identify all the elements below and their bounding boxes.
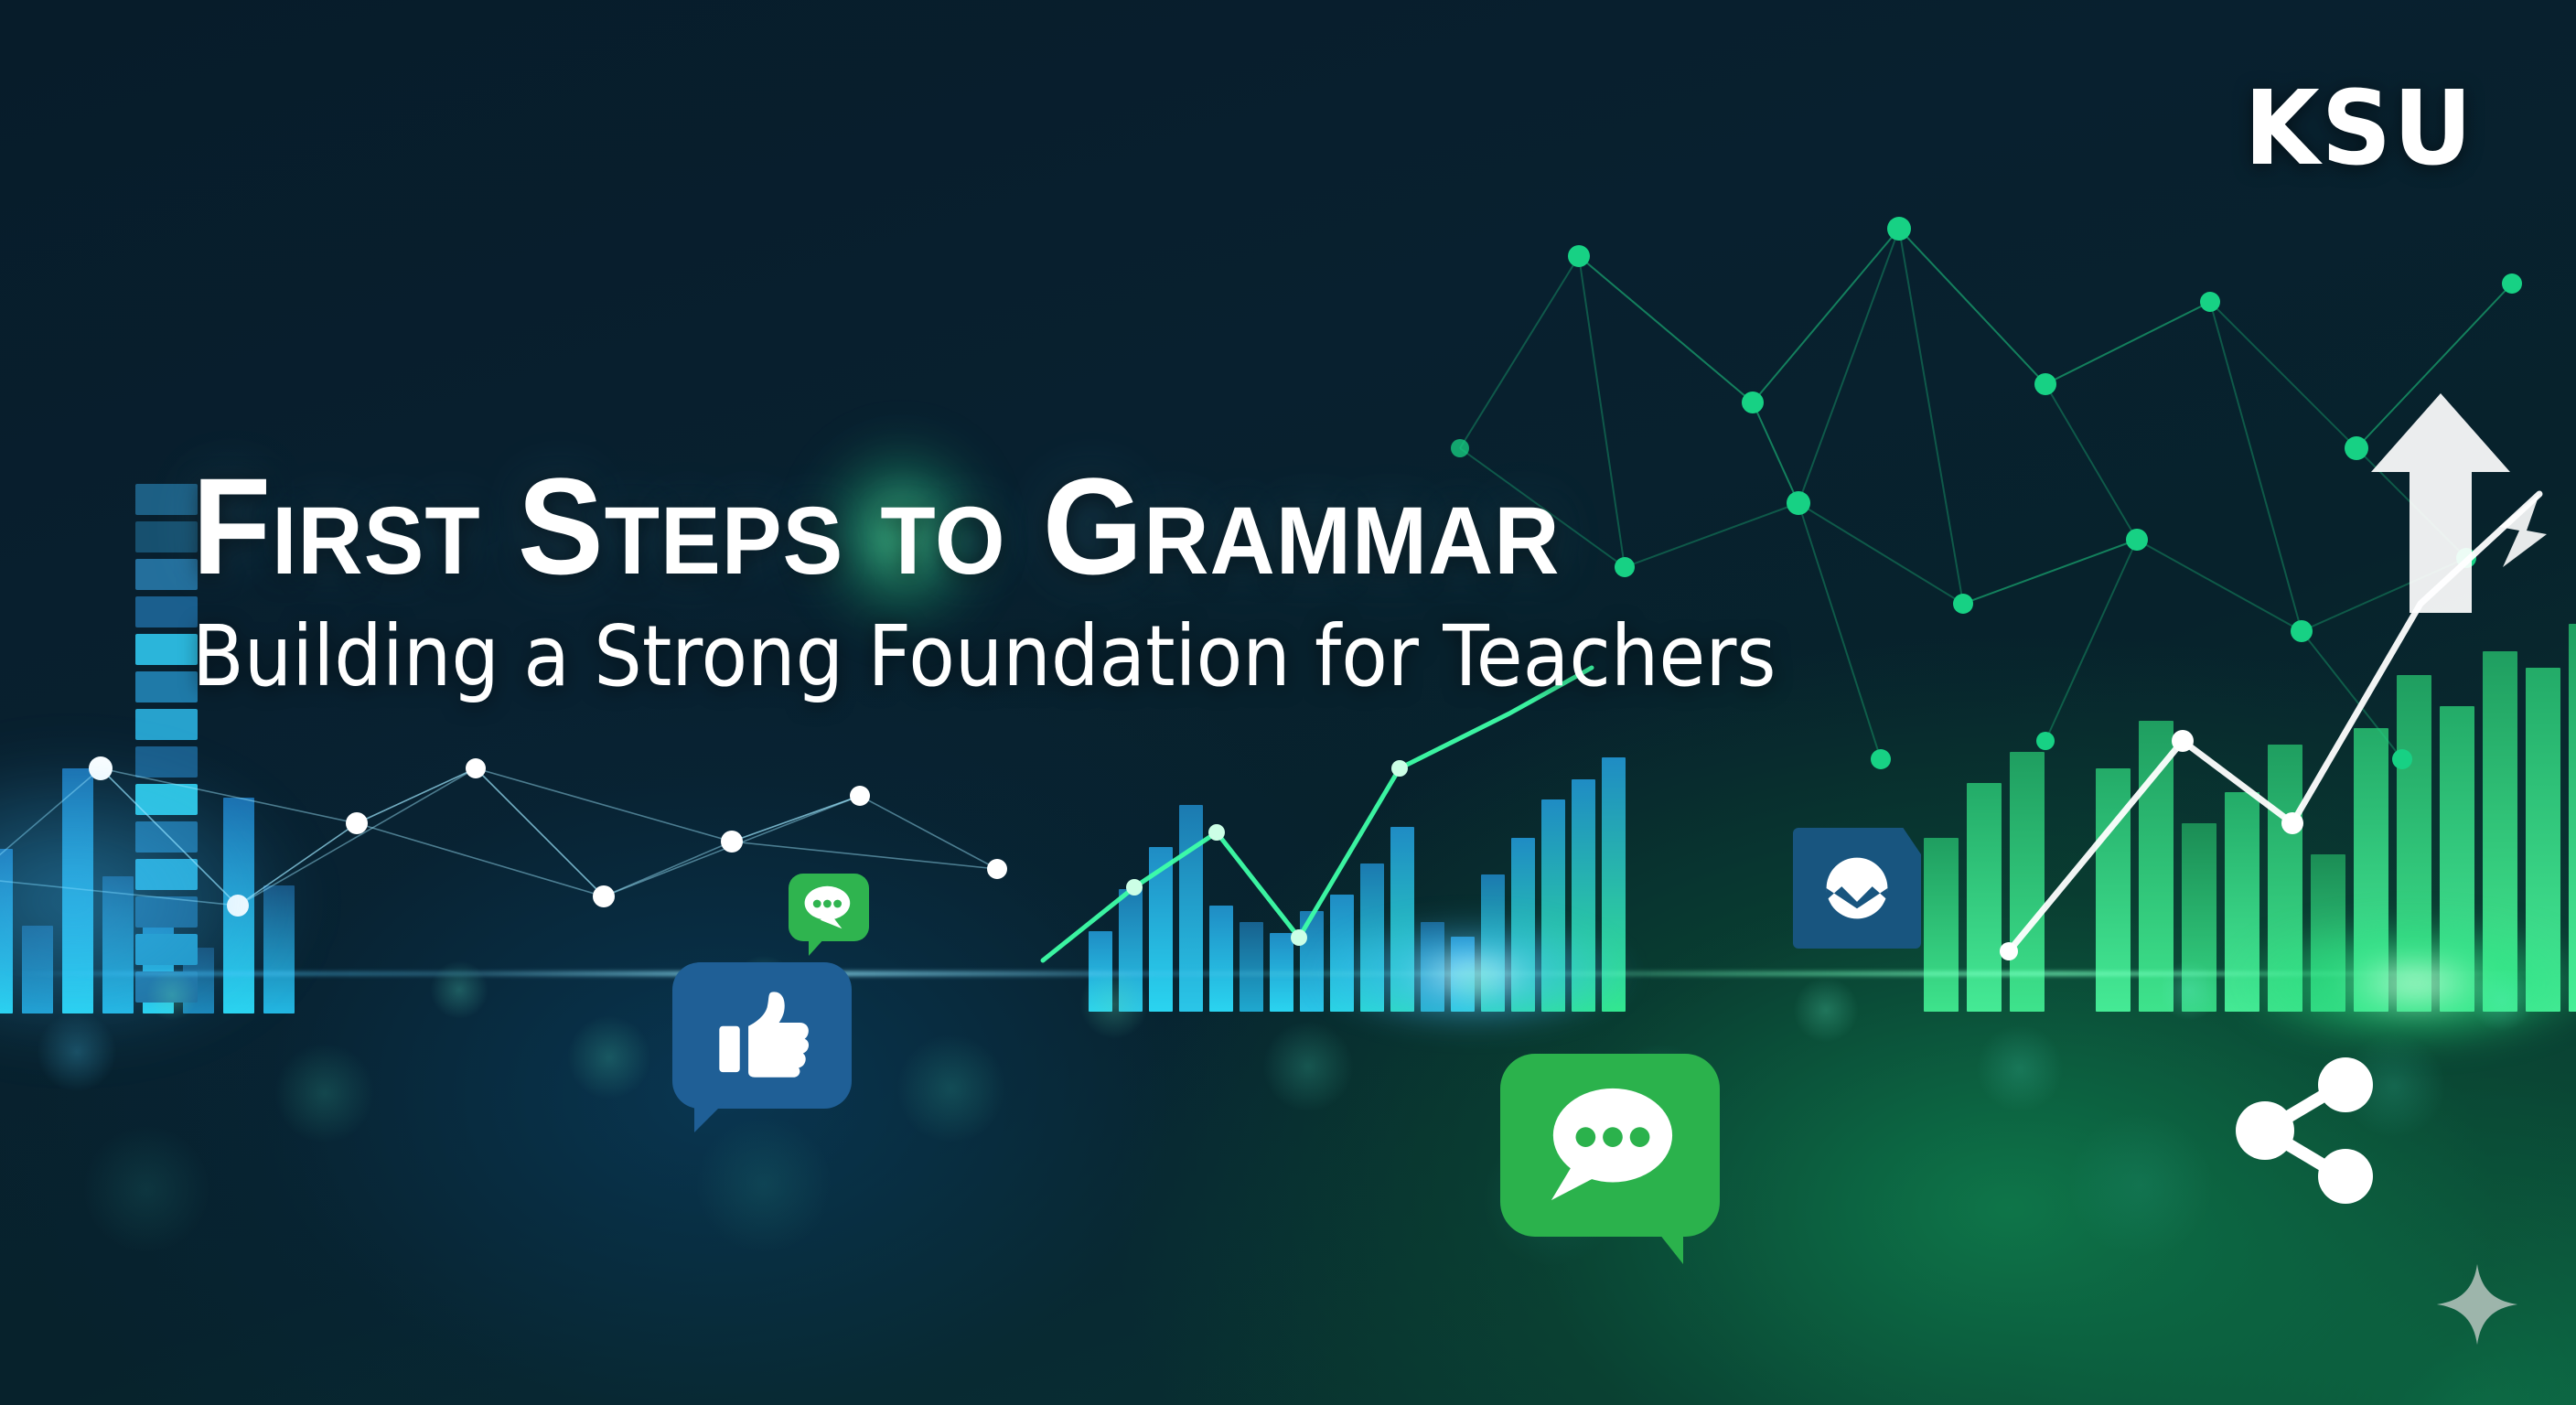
headline-block: First Steps to Grammar Building a Strong… — [192, 457, 2314, 702]
like-thumbs-up-icon[interactable] — [672, 962, 852, 1109]
brand-glyph — [1821, 853, 1893, 924]
thumbs-up-glyph — [711, 988, 813, 1083]
ksu-logo: KSU — [2244, 70, 2474, 188]
share-network-icon[interactable] — [2223, 1052, 2388, 1207]
chat-bubble-glyph — [1533, 1078, 1687, 1213]
brand-badge-icon[interactable] — [1793, 828, 1921, 965]
sparkle-icon — [2433, 1260, 2521, 1348]
light-streak — [0, 971, 2576, 976]
promo-banner: First Steps to Grammar Building a Strong… — [0, 0, 2576, 1405]
chat-bubble-small-icon[interactable] — [789, 874, 869, 941]
chart-left-segmented-bar — [135, 484, 198, 1003]
page-subtitle: Building a Strong Foundation for Teacher… — [192, 613, 2102, 702]
page-title: First Steps to Grammar — [192, 457, 2187, 595]
chat-bubble-large-icon[interactable] — [1500, 1054, 1720, 1237]
share-glyph — [2223, 1052, 2388, 1207]
upward-arrow-icon — [2331, 384, 2550, 622]
chat-bubble-small-glyph — [800, 883, 858, 932]
